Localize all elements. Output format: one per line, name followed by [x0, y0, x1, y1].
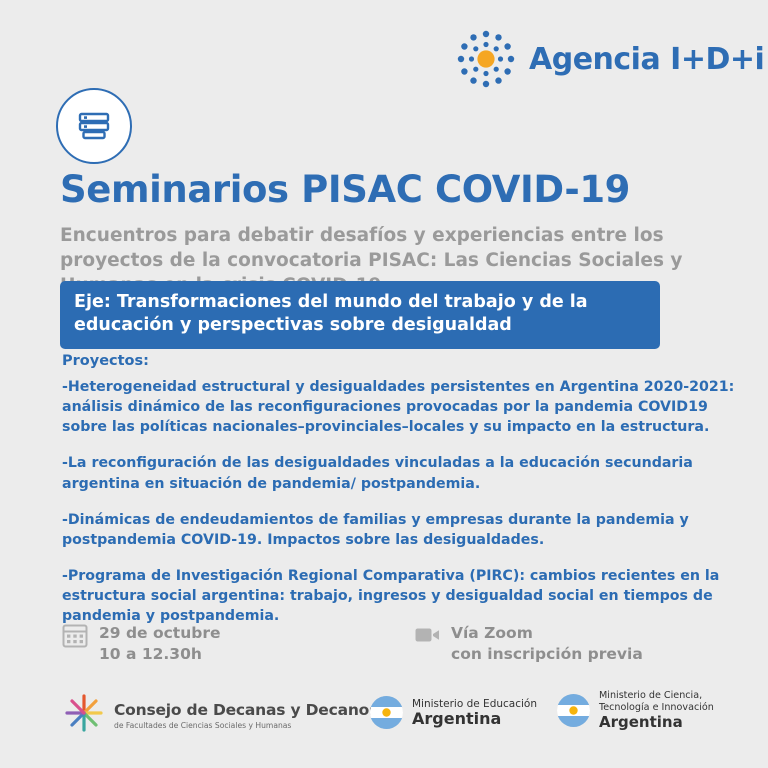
- consejo-logo: Consejo de Decanas y Decanos de Facultad…: [63, 692, 378, 738]
- detail-platform-line1: Vía Zoom: [451, 624, 533, 642]
- argentina-flag-icon: [370, 696, 403, 729]
- ministerio-ciencia-text: Ministerio de Ciencia, Tecnología e Inno…: [599, 690, 714, 731]
- video-camera-icon: [414, 622, 440, 648]
- detail-platform: Vía Zoom con inscripción previa: [414, 622, 643, 664]
- ministerio-educacion-text: Ministerio de Educación Argentina: [412, 698, 537, 728]
- calendar-icon: [62, 622, 88, 648]
- projects-list: -Heterogeneidad estructural y desigualda…: [62, 377, 742, 643]
- agency-name: Agencia I+D+i: [529, 42, 764, 77]
- consejo-line2: de Facultades de Ciencias Sociales y Hum…: [114, 721, 378, 730]
- star-burst-icon: [63, 692, 105, 738]
- list-item: -Programa de Investigación Regional Comp…: [62, 566, 742, 626]
- ministerio-ciencia-line1: Ministerio de Ciencia,: [599, 690, 714, 702]
- ministerio-educacion-logo: Ministerio de Educación Argentina: [370, 696, 537, 729]
- ministerio-ciencia-logo: Ministerio de Ciencia, Tecnología e Inno…: [557, 690, 714, 731]
- projects-label: Proyectos:: [62, 353, 149, 369]
- list-item: -La reconfiguración de las desigualdades…: [62, 453, 742, 493]
- detail-date-line2: 10 a 12.30h: [99, 645, 202, 663]
- ministerio-educacion-line2: Argentina: [412, 710, 537, 728]
- sun-dots-icon: [455, 28, 517, 90]
- eje-body: Transformaciones del mundo del trabajo y…: [74, 292, 588, 335]
- detail-platform-lines: Vía Zoom con inscripción previa: [451, 622, 643, 664]
- eje-banner: Eje: Transformaciones del mundo del trab…: [60, 281, 660, 349]
- ministerio-educacion-line1: Ministerio de Educación: [412, 698, 537, 710]
- agency-logo: Agencia I+D+i: [455, 28, 764, 90]
- consejo-text: Consejo de Decanas y Decanos de Facultad…: [114, 701, 378, 730]
- detail-date: 29 de octubre 10 a 12.30h: [62, 622, 221, 664]
- list-item: -Dinámicas de endeudamientos de familias…: [62, 510, 742, 550]
- ministerio-ciencia-line2: Tecnología e Innovación: [599, 702, 714, 714]
- argentina-flag-icon: [557, 694, 590, 727]
- list-item: -Heterogeneidad estructural y desigualda…: [62, 377, 742, 437]
- page-title: Seminarios PISAC COVID-19: [60, 168, 720, 211]
- consejo-line1: Consejo de Decanas y Decanos: [114, 701, 378, 719]
- footer-logos: Consejo de Decanas y Decanos de Facultad…: [0, 686, 768, 768]
- detail-date-line1: 29 de octubre: [99, 624, 221, 642]
- detail-platform-line2: con inscripción previa: [451, 645, 643, 663]
- eje-prefix: Eje:: [74, 292, 111, 312]
- books-icon: [56, 88, 132, 164]
- flyer-page: Agencia I+D+i Seminarios PISAC COVID-19 …: [0, 0, 768, 768]
- eje-text: Eje: Transformaciones del mundo del trab…: [74, 291, 646, 338]
- ministerio-ciencia-line3: Argentina: [599, 714, 714, 731]
- detail-date-lines: 29 de octubre 10 a 12.30h: [99, 622, 221, 664]
